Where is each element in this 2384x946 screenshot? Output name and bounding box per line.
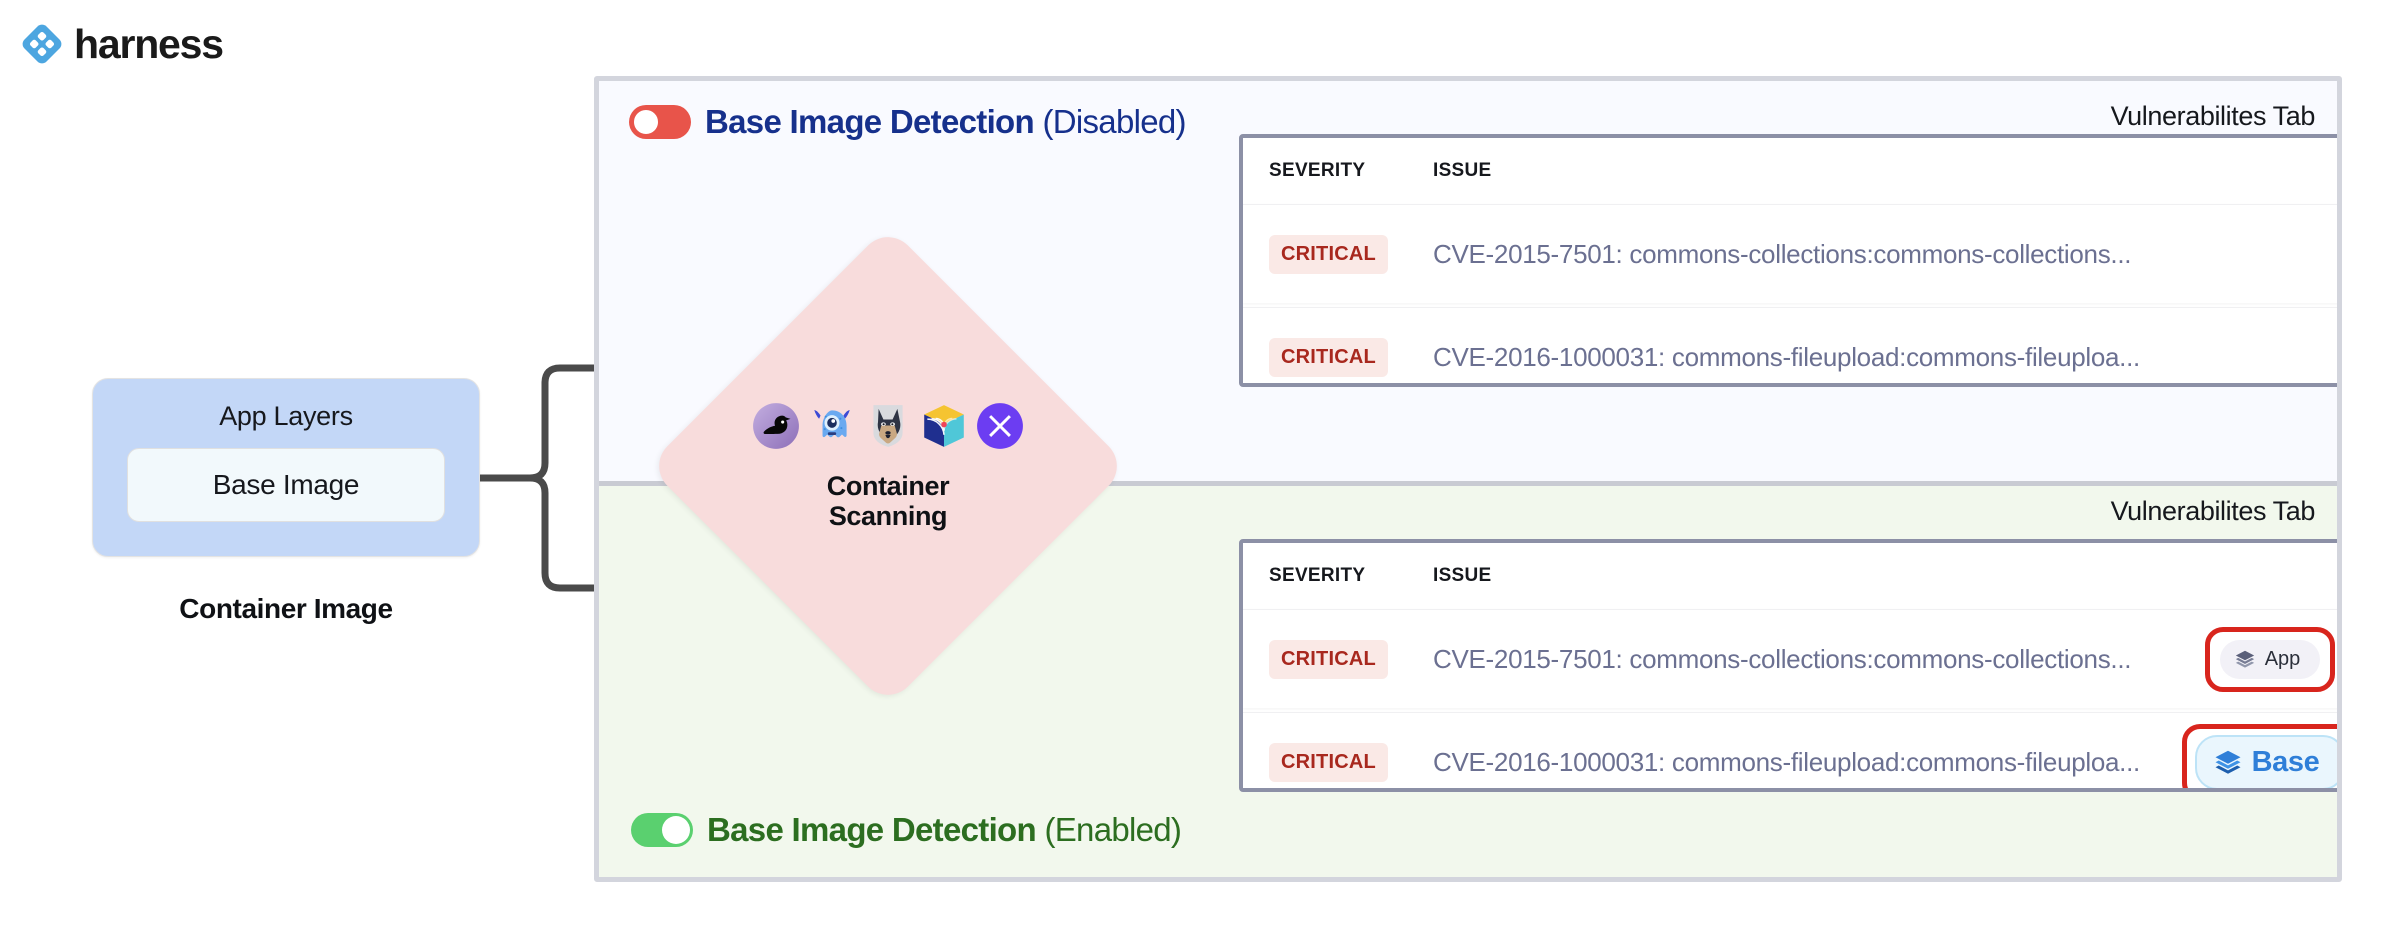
table-header-row: SEVERITY ISSUE C (1243, 543, 2342, 609)
container-image-caption: Container Image (92, 593, 480, 625)
column-header-issue[interactable]: ISSUE (1433, 565, 2342, 587)
purple-x-scanner-icon (975, 401, 1025, 451)
toggle-knob (662, 816, 690, 844)
layer-chip-label: Base (2252, 746, 2320, 779)
scanner-title: Container Scanning (827, 471, 949, 531)
layers-icon (2234, 648, 2256, 670)
cell-layer-tag: Base (2165, 724, 2342, 793)
table-row[interactable]: CRITICAL CVE-2015-7501: commons-collecti… (1243, 204, 2342, 303)
cube-radar-scanner-icon (919, 401, 969, 451)
toggle-label-enabled: Base Image Detection (Enabled) (707, 811, 1181, 849)
cell-severity: CRITICAL (1243, 235, 1433, 274)
cell-severity: CRITICAL (1243, 743, 1433, 782)
column-header-severity[interactable]: SEVERITY (1243, 160, 1433, 182)
vulnerabilities-tab-caption-bottom: Vulnerabilites Tab (2111, 496, 2315, 527)
cell-issue[interactable]: CVE-2015-7501: commons-collections:commo… (1433, 644, 2165, 675)
base-image-box: Base Image (127, 448, 445, 522)
scanner-title-line1: Container (827, 471, 949, 501)
table-header-row: SEVERITY ISSUE C (1243, 138, 2342, 204)
cell-layer-tag: App (2165, 627, 2342, 692)
black-duck-icon (751, 401, 801, 451)
scanner-tool-icons (751, 401, 1025, 451)
annotation-highlight-base: Base (2182, 724, 2342, 793)
toggle-label-strong: Base Image Detection (705, 103, 1034, 140)
base-image-detection-toggle-off[interactable] (629, 105, 691, 139)
column-header-issue[interactable]: ISSUE (1433, 160, 2342, 182)
table-row[interactable]: CRITICAL CVE-2016-1000031: commons-fileu… (1243, 712, 2342, 792)
cell-issue[interactable]: CVE-2016-1000031: commons-fileupload:com… (1433, 747, 2165, 778)
annotation-highlight-app: App (2205, 627, 2336, 692)
status-badge: CRITICAL (1269, 235, 1388, 274)
column-header-severity[interactable]: SEVERITY (1243, 565, 1433, 587)
container-image-block: App Layers Base Image Container Image (92, 378, 480, 625)
vulnerabilities-tab-caption-top: Vulnerabilites Tab (2111, 101, 2315, 132)
cell-severity: CRITICAL (1243, 640, 1433, 679)
status-badge: CRITICAL (1269, 743, 1388, 782)
status-badge: CRITICAL (1269, 338, 1388, 377)
vulnerabilities-table-disabled: SEVERITY ISSUE C CRITICAL CVE-2015-7501:… (1239, 134, 2342, 387)
table-row[interactable]: CRITICAL CVE-2015-7501: commons-collecti… (1243, 609, 2342, 708)
doberman-scanner-icon (863, 401, 913, 451)
harness-diamond-logo (20, 22, 64, 66)
cell-issue[interactable]: CVE-2016-1000031: commons-fileupload:com… (1433, 342, 2165, 373)
scanner-title-line2: Scanning (827, 501, 949, 531)
toggle-label-state: (Enabled) (1044, 811, 1181, 848)
layer-chip-base[interactable]: Base (2195, 735, 2342, 790)
toggle-row-disabled[interactable]: Base Image Detection (Disabled) (629, 103, 1186, 141)
table-row[interactable]: CRITICAL CVE-2016-1000031: commons-fileu… (1243, 307, 2342, 387)
status-badge: CRITICAL (1269, 640, 1388, 679)
monster-scanner-icon (807, 401, 857, 451)
toggle-label-disabled: Base Image Detection (Disabled) (705, 103, 1186, 141)
toggle-row-enabled[interactable]: Base Image Detection (Enabled) (631, 811, 1181, 849)
toggle-knob (632, 108, 660, 136)
app-layers-box: App Layers Base Image (92, 378, 480, 557)
cell-issue[interactable]: CVE-2015-7501: commons-collections:commo… (1433, 239, 2165, 270)
base-image-detection-toggle-on[interactable] (631, 813, 693, 847)
toggle-label-strong: Base Image Detection (707, 811, 1036, 848)
cell-severity: CRITICAL (1243, 338, 1433, 377)
container-scanning-node: Container Scanning (718, 296, 1058, 636)
toggle-label-state: (Disabled) (1042, 103, 1185, 140)
app-layers-label: App Layers (127, 401, 445, 432)
vulnerabilities-table-enabled: SEVERITY ISSUE C CRITICAL CVE-2015-7501:… (1239, 539, 2342, 792)
brand-name: harness (74, 24, 223, 65)
layer-chip-label: App (2265, 648, 2301, 671)
layer-chip-app[interactable]: App (2220, 640, 2321, 679)
harness-logo: harness (20, 22, 223, 66)
layers-icon (2213, 747, 2243, 777)
